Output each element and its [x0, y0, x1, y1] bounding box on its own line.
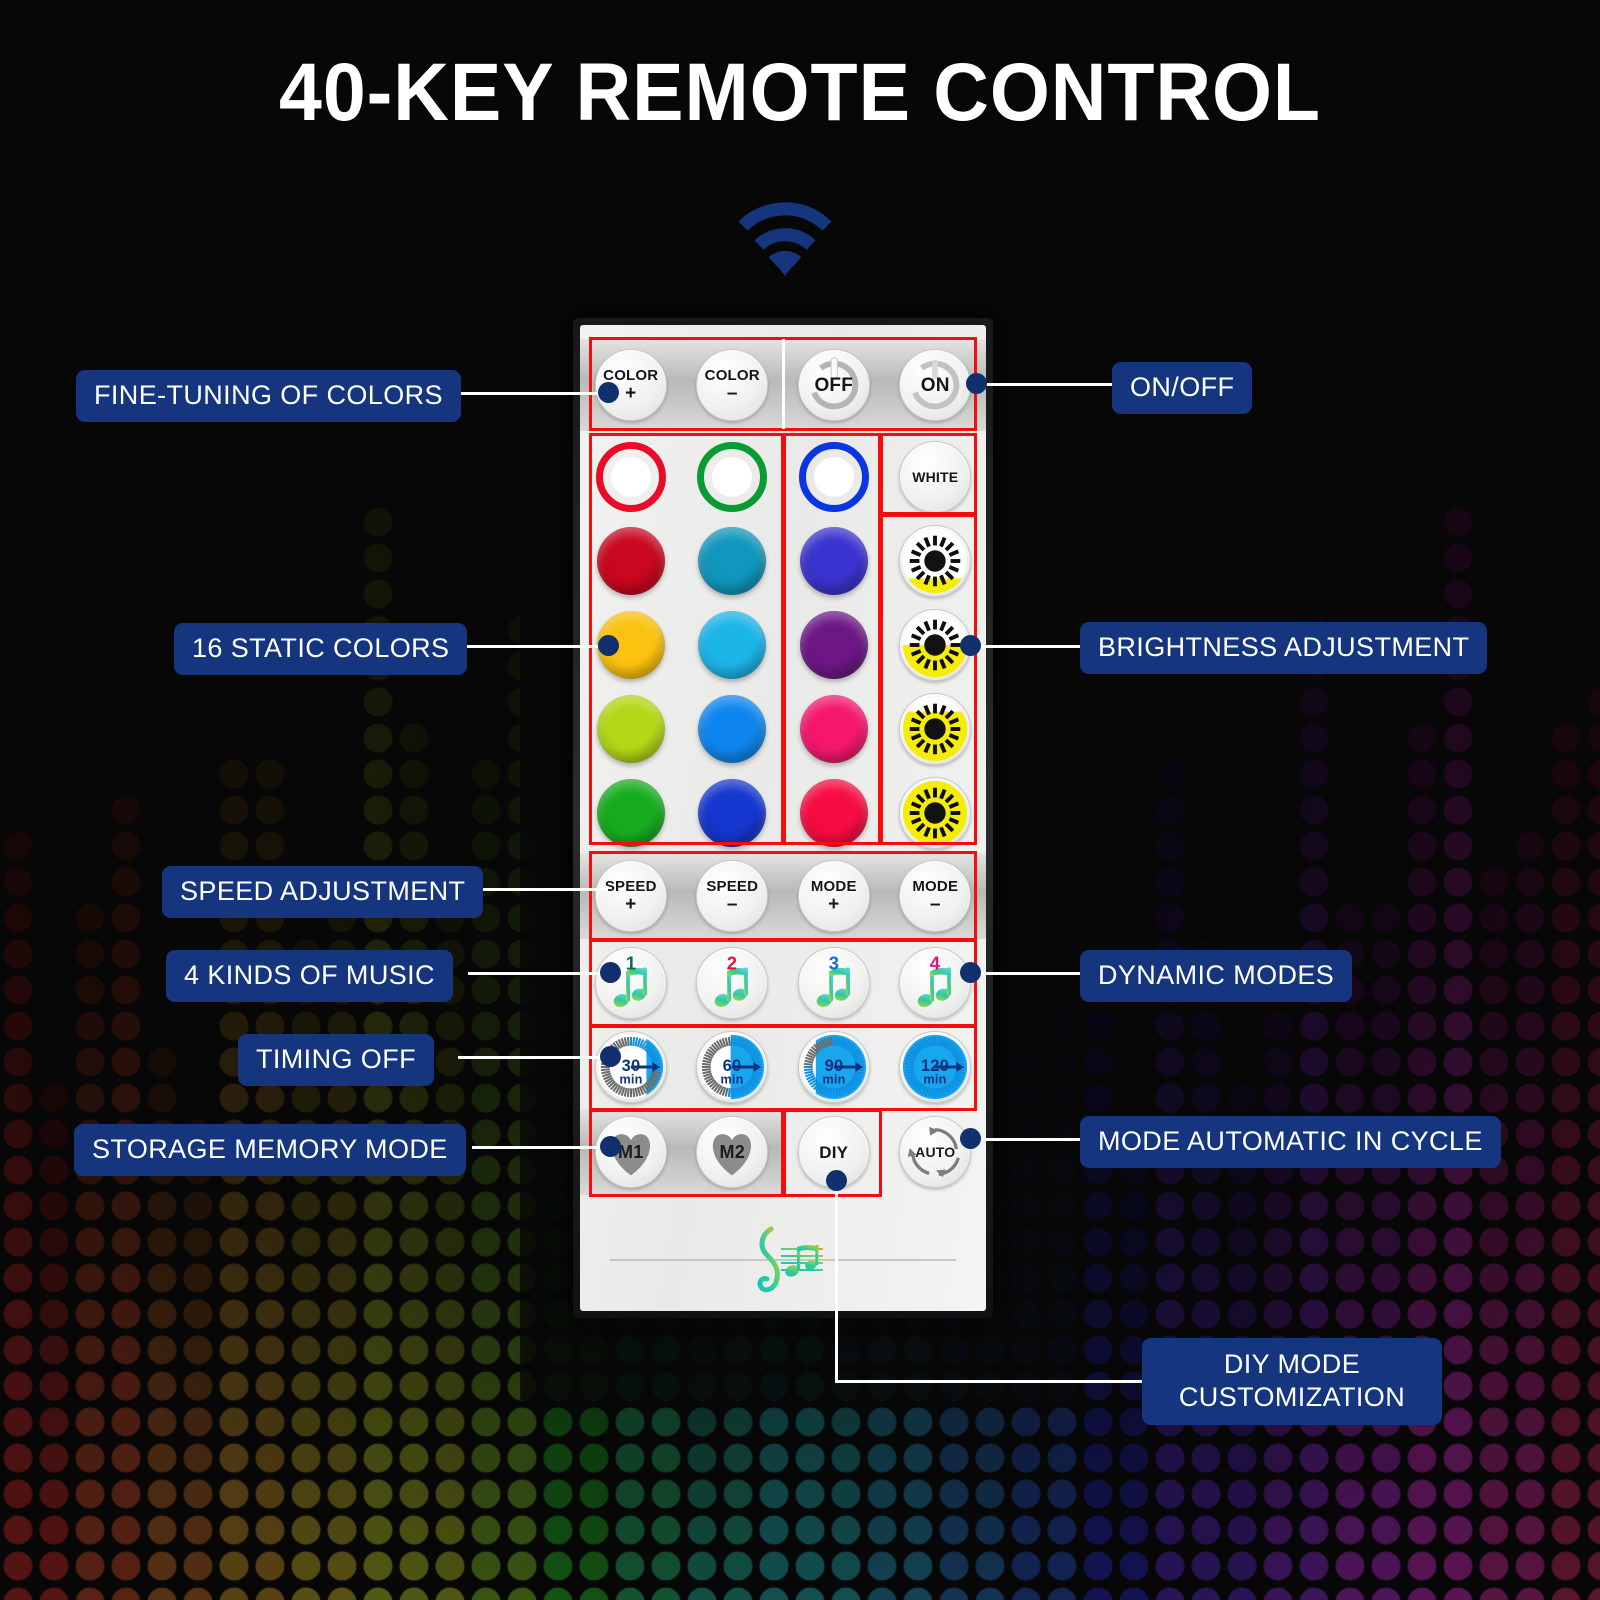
leader-line-dynamic [968, 972, 1080, 975]
leader-line-memory [472, 1146, 612, 1149]
treble-clef-icon [737, 1221, 829, 1299]
on-button[interactable]: ON [899, 349, 971, 421]
key-cell [580, 771, 682, 855]
key-label: M1 [618, 1143, 643, 1161]
static-color-button[interactable] [800, 611, 868, 679]
key-cell [682, 771, 784, 855]
static-color-button[interactable] [800, 527, 868, 595]
key-cell [682, 603, 784, 687]
speed-minus-button[interactable]: SPEED– [696, 860, 768, 932]
key-label: SPEED [706, 879, 758, 894]
key-sublabel: + [625, 895, 636, 914]
key-label: R [611, 457, 651, 497]
key-sublabel: – [930, 895, 941, 914]
wifi-icon [735, 198, 835, 278]
auto-button[interactable]: AUTO [899, 1116, 971, 1188]
leader-line-brightness [968, 645, 1080, 648]
row-timer: 30min60min90min120min [580, 1025, 986, 1109]
label-storage-memory-mode[interactable]: STORAGE MEMORY MODE [74, 1124, 466, 1176]
key-cell: OFF [783, 339, 885, 431]
key-cell: SPEED+ [580, 853, 682, 939]
label-4-kinds-of-music[interactable]: 4 KINDS OF MUSIC [166, 950, 453, 1002]
label-speed-adjustment[interactable]: SPEED ADJUSTMENT [162, 866, 483, 918]
key-sublabel: + [625, 384, 636, 403]
key-cell: 4 [885, 941, 987, 1025]
brightness-icon [900, 694, 970, 764]
brightness-level-100-button[interactable] [899, 777, 971, 849]
key-cell: R [580, 435, 682, 519]
key-cell [885, 519, 987, 603]
leader-dot-fine-tuning [598, 382, 619, 403]
key-cell [885, 771, 987, 855]
leader-dot-auto-cycle [960, 1128, 981, 1149]
key-label: COLOR [603, 368, 658, 383]
row-music-modes: 1234 [580, 941, 986, 1025]
static-color-button[interactable] [698, 527, 766, 595]
svg-text:4: 4 [930, 952, 941, 973]
timer-30min-button[interactable]: 30min [595, 1031, 667, 1103]
key-cell [783, 519, 885, 603]
brightness-icon [900, 778, 970, 848]
leader-line-diy-vertical [835, 1186, 838, 1381]
key-cell [580, 687, 682, 771]
row-memory-diy-auto: M1 M2 DIY AUTO [580, 1109, 986, 1195]
row-static-colors [580, 519, 986, 603]
static-color-button[interactable] [597, 779, 665, 847]
music-note-icon: 1 [596, 948, 666, 1018]
key-label: B [814, 457, 854, 497]
static-color-button[interactable] [597, 527, 665, 595]
key-sublabel: – [727, 895, 738, 914]
key-cell: AUTO [885, 1109, 987, 1195]
key-cell: M2 [682, 1116, 784, 1188]
key-cell: 3 [783, 941, 885, 1025]
static-color-button[interactable] [800, 779, 868, 847]
leader-line-diy-horizontal [835, 1380, 1145, 1383]
remote-control-device: COLOR + COLOR – OFF ON R G B WHITE SP [573, 318, 993, 1318]
key-cell: 120min [885, 1025, 987, 1109]
key-cell: COLOR + [580, 339, 682, 431]
key-label: ON [921, 376, 950, 395]
leader-dot-brightness [960, 635, 981, 656]
key-cell: SPEED– [682, 853, 784, 939]
svg-text:2: 2 [727, 952, 737, 973]
white-button[interactable]: WHITE [899, 441, 971, 513]
svg-text:min: min [924, 1073, 947, 1087]
key-label: COLOR [705, 368, 760, 383]
timer-120min-button[interactable]: 120min [899, 1031, 971, 1103]
label-mode-automatic-in-cycle[interactable]: MODE AUTOMATIC IN CYCLE [1080, 1116, 1501, 1168]
static-color-button[interactable] [800, 695, 868, 763]
music-note-icon: 4 [900, 948, 970, 1018]
key-sublabel: – [727, 384, 738, 403]
key-cell: MODE– [885, 853, 987, 939]
key-cell: 1 [580, 941, 682, 1025]
key-cell [783, 603, 885, 687]
leader-dot-dynamic [960, 962, 981, 983]
timer-60min-button[interactable]: 60min [696, 1031, 768, 1103]
brightness-level-25-button[interactable] [899, 525, 971, 597]
leader-dot-on-off [966, 373, 987, 394]
brightness-level-75-button[interactable] [899, 693, 971, 765]
key-cell [783, 771, 885, 855]
key-cell: G [682, 435, 784, 519]
timer-icon: 60min [697, 1032, 767, 1102]
key-label: MODE [811, 879, 857, 894]
key-cell: MODE+ [783, 853, 885, 939]
label-line-1: DIY MODE [1224, 1349, 1360, 1379]
leader-line-timing [458, 1056, 610, 1059]
blue-button[interactable]: B [799, 442, 869, 512]
microphone-logo-area [580, 1230, 986, 1290]
off-button[interactable]: OFF [798, 349, 870, 421]
key-cell: 90min [783, 1025, 885, 1109]
row-static-colors [580, 771, 986, 855]
music-note-icon: 3 [799, 948, 869, 1018]
svg-text:min: min [619, 1073, 642, 1087]
key-cell: 2 [682, 941, 784, 1025]
mode-minus-button[interactable]: MODE– [899, 860, 971, 932]
leader-line-on-off [968, 383, 1116, 386]
key-cell [580, 519, 682, 603]
key-cell [783, 687, 885, 771]
static-color-button[interactable] [698, 695, 766, 763]
key-label: AUTO [915, 1145, 955, 1159]
leader-dot-music [600, 962, 621, 983]
leader-line-music [468, 972, 610, 975]
row-static-colors [580, 687, 986, 771]
label-on-off[interactable]: ON/OFF [1112, 362, 1252, 414]
music-mode-3-button[interactable]: 3 [798, 947, 870, 1019]
timer-icon: 30min [596, 1032, 666, 1102]
leader-line-fine-tuning [455, 392, 605, 395]
leader-dot-memory [600, 1136, 621, 1157]
timer-90min-button[interactable]: 90min [798, 1031, 870, 1103]
color-minus-button[interactable]: COLOR – [696, 349, 768, 421]
leader-dot-timing [600, 1046, 621, 1067]
green-button[interactable]: G [697, 442, 767, 512]
label-16-static-colors[interactable]: 16 STATIC COLORS [174, 623, 467, 675]
key-label: WHITE [912, 470, 958, 484]
music-mode-4-button[interactable]: 4 [899, 947, 971, 1019]
key-cell [885, 687, 987, 771]
svg-text:3: 3 [829, 952, 839, 973]
key-label: DIY [819, 1144, 848, 1161]
red-button[interactable]: R [596, 442, 666, 512]
row-rgb-white: R G B WHITE [580, 435, 986, 519]
key-cell: 30min [580, 1025, 682, 1109]
svg-text:1: 1 [626, 952, 636, 973]
page-title: 40-KEY REMOTE CONTROL [48, 46, 1552, 140]
static-color-button[interactable] [698, 611, 766, 679]
key-sublabel: + [828, 895, 839, 914]
label-diy-mode-customization[interactable]: DIY MODE CUSTOMIZATION [1142, 1338, 1442, 1425]
key-cell: WHITE [885, 435, 987, 519]
row-speed-mode: SPEED+ SPEED– MODE+ MODE– [580, 853, 986, 939]
key-label: G [712, 457, 752, 497]
music-mode-2-button[interactable]: 2 [696, 947, 768, 1019]
music-note-icon: 2 [697, 948, 767, 1018]
svg-text:min: min [822, 1073, 845, 1087]
label-timing-off[interactable]: TIMING OFF [238, 1034, 434, 1086]
annotation-divider [782, 339, 785, 429]
label-fine-tuning-of-colors[interactable]: FINE-TUNING OF COLORS [76, 370, 461, 422]
speed-plus-button[interactable]: SPEED+ [595, 860, 667, 932]
timer-icon: 120min [900, 1032, 970, 1102]
label-dynamic-modes[interactable]: DYNAMIC MODES [1080, 950, 1352, 1002]
brightness-icon [900, 526, 970, 596]
leader-dot-diy [826, 1170, 847, 1191]
leader-line-speed [468, 888, 608, 891]
static-color-button[interactable] [597, 695, 665, 763]
key-label: SPEED [605, 879, 657, 894]
remote-faceplate: COLOR + COLOR – OFF ON R G B WHITE SP [580, 325, 986, 1311]
memory-m2-button[interactable]: M2 [696, 1116, 768, 1188]
key-cell: M1 [580, 1116, 682, 1188]
key-cell: 60min [682, 1025, 784, 1109]
music-mode-1-button[interactable]: 1 [595, 947, 667, 1019]
key-cell: B [783, 435, 885, 519]
key-cell [682, 687, 784, 771]
key-cell [682, 519, 784, 603]
key-label: OFF [814, 376, 853, 395]
timer-icon: 90min [799, 1032, 869, 1102]
svg-text:min: min [721, 1073, 744, 1087]
mode-plus-button[interactable]: MODE+ [798, 860, 870, 932]
key-label: M2 [720, 1143, 745, 1161]
label-line-2: CUSTOMIZATION [1179, 1382, 1405, 1412]
key-cell: COLOR – [682, 339, 784, 431]
label-brightness-adjustment[interactable]: BRIGHTNESS ADJUSTMENT [1080, 622, 1487, 674]
leader-line-auto-cycle [968, 1138, 1080, 1141]
leader-dot-static-colors [598, 635, 619, 656]
static-color-button[interactable] [698, 779, 766, 847]
key-label: MODE [912, 879, 958, 894]
row-static-colors [580, 603, 986, 687]
